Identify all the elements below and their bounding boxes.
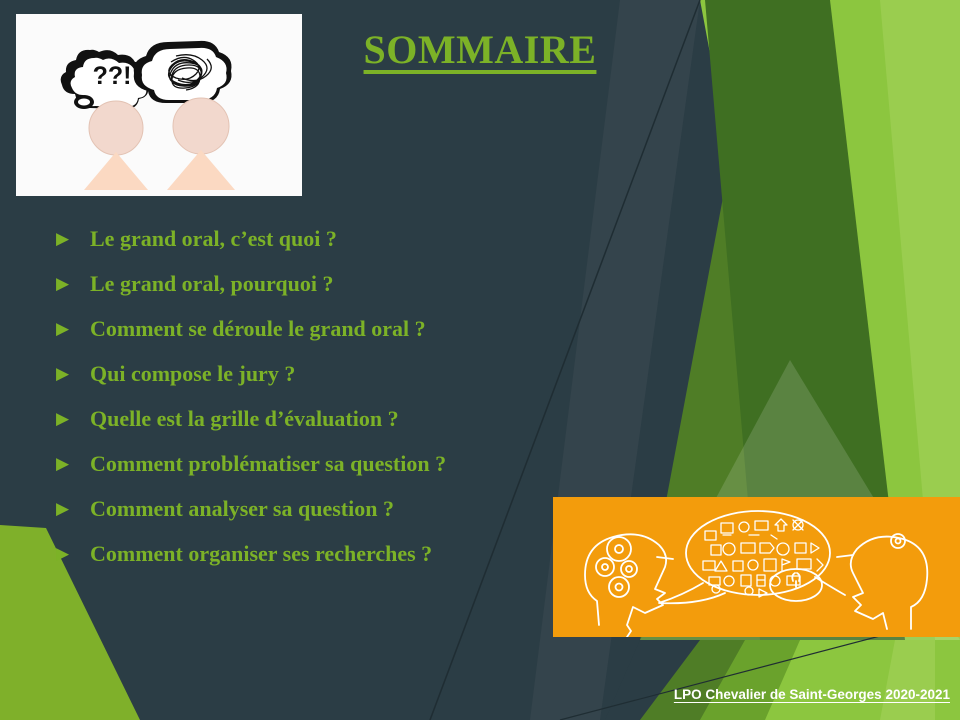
triangle-bullet-icon: ▶ [56,455,90,472]
list-item[interactable]: ▶ Quelle est la grille d’évaluation ? [56,406,576,451]
bubble-left-tail-big-fill [78,99,90,106]
triangle-bullet-icon: ▶ [56,275,90,292]
list-item[interactable]: ▶ Qui compose le jury ? [56,361,576,406]
triangle-bullet-icon: ▶ [56,500,90,517]
bubble-left-text: ??! [93,62,132,90]
photo-wooden-figures: ??! [16,14,302,196]
photo-backdrop [16,14,302,196]
page-title: SOMMAIRE [330,26,630,73]
list-item-label: Qui compose le jury ? [90,361,295,387]
photo-artwork: ??! [16,14,302,196]
list-item[interactable]: ▶ Comment organiser ses recherches ? [56,541,576,586]
list-item[interactable]: ▶ Comment analyser sa question ? [56,496,576,541]
list-item[interactable]: ▶ Comment se déroule le grand oral ? [56,316,576,361]
list-item[interactable]: ▶ Le grand oral, c’est quoi ? [56,226,576,271]
list-item[interactable]: ▶ Le grand oral, pourquoi ? [56,271,576,316]
illustration-heads-talking [553,497,960,637]
illustration-artwork [553,497,960,637]
triangle-bullet-icon: ▶ [56,230,90,247]
list-item-label: Quelle est la grille d’évaluation ? [90,406,399,432]
triangle-bullet-icon: ▶ [56,545,90,562]
list-item-label: Le grand oral, c’est quoi ? [90,226,337,252]
triangle-bullet-icon: ▶ [56,410,90,427]
list-item[interactable]: ▶ Comment problématiser sa question ? [56,451,576,496]
summary-list: ▶ Le grand oral, c’est quoi ? ▶ Le grand… [56,226,576,586]
list-item-label: Comment organiser ses recherches ? [90,541,432,567]
list-item-label: Comment analyser sa question ? [90,496,394,522]
list-item-label: Comment se déroule le grand oral ? [90,316,426,342]
triangle-bullet-icon: ▶ [56,365,90,382]
list-item-label: Comment problématiser sa question ? [90,451,446,477]
list-item-label: Le grand oral, pourquoi ? [90,271,333,297]
footer-credit: LPO Chevalier de Saint-Georges 2020-2021 [674,687,950,702]
triangle-bullet-icon: ▶ [56,320,90,337]
presentation-slide: ??! [0,0,960,720]
